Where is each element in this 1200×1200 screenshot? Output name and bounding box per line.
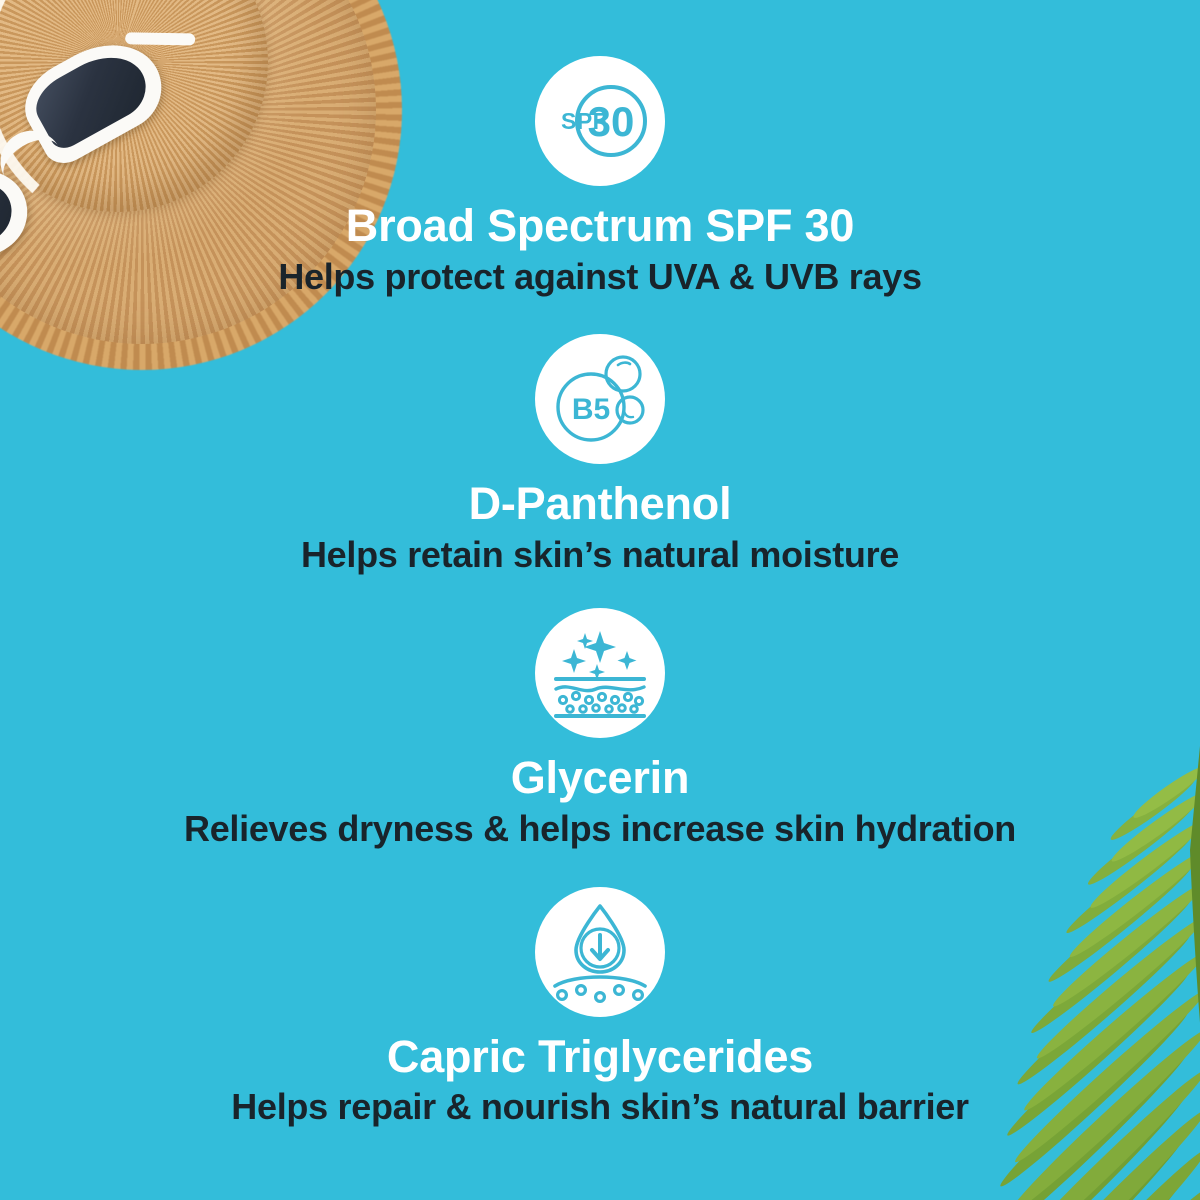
feature-item-spf30: SPF 30 Broad Spectrum SPF 30 Helps prote… [0,56,1200,296]
sparkles [562,631,637,680]
feature-title: D-Panthenol [469,480,732,529]
b5-bubbles-icon: B5 [535,334,665,464]
ingredient-benefits-poster: SPF 30 Broad Spectrum SPF 30 Helps prote… [0,0,1200,1200]
feature-item-capric-triglycerides: Capric Triglycerides Helps repair & nour… [0,887,1200,1127]
feature-description: Helps retain skin’s natural moisture [301,535,899,575]
feature-title: Glycerin [511,754,690,803]
feature-description: Helps protect against UVA & UVB rays [278,257,921,297]
feature-title: Capric Triglycerides [387,1033,813,1082]
feature-title: Broad Spectrum SPF 30 [346,202,854,251]
hydrated-skin-layer-icon [535,608,665,738]
feature-description: Relieves dryness & helps increase skin h… [184,809,1016,849]
droplet-absorb-icon [535,887,665,1017]
feature-item-glycerin: Glycerin Relieves dryness & helps increa… [0,608,1200,848]
spf-30-icon: SPF 30 [535,56,665,186]
feature-item-d-panthenol: B5 D-Panthenol Helps retain skin’s natur… [0,334,1200,574]
b5-icon-label: B5 [572,393,610,426]
feature-list: SPF 30 Broad Spectrum SPF 30 Helps prote… [0,0,1200,1200]
spf-icon-value: 30 [588,98,635,145]
feature-description: Helps repair & nourish skin’s natural ba… [231,1087,968,1127]
